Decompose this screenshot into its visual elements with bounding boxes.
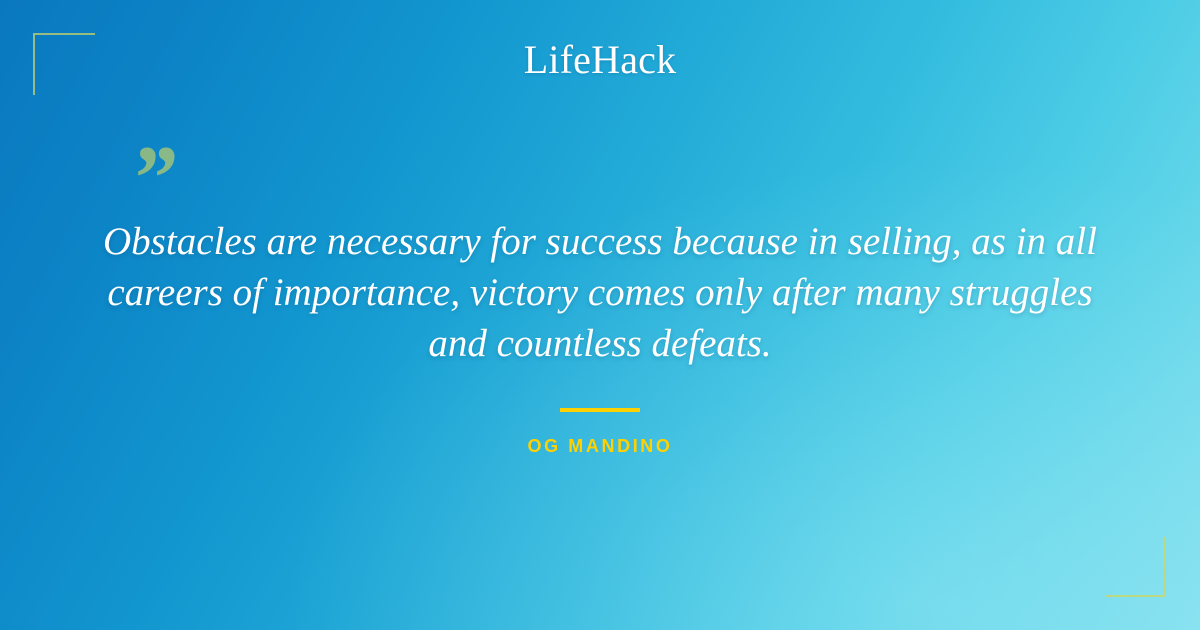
brand-logo: LifeHack — [0, 36, 1200, 84]
quotation-mark-icon: ” — [130, 132, 176, 224]
divider-rule — [560, 408, 640, 412]
quote-author: OG MANDINO — [0, 436, 1200, 457]
corner-bracket-bottom-right-icon — [1105, 537, 1165, 597]
quote-text: Obstacles are necessary for success beca… — [100, 216, 1100, 369]
attribution-block: OG MANDINO — [0, 408, 1200, 457]
quote-card: LifeHack ” Obstacles are necessary for s… — [0, 0, 1200, 630]
